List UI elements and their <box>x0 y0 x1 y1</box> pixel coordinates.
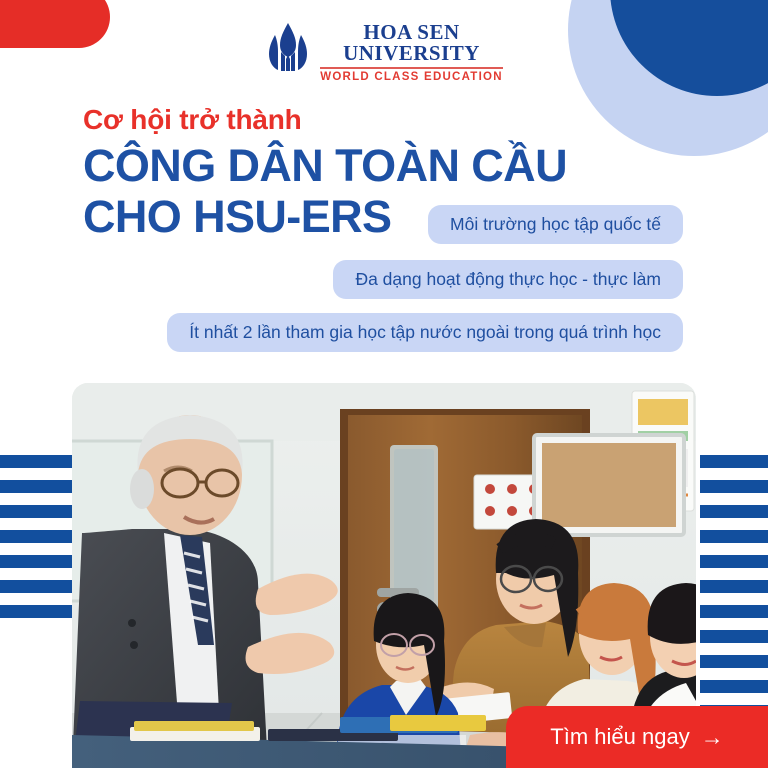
brand-tagline: WORLD CLASS EDUCATION <box>320 71 503 83</box>
brand-name-line1: HOA SEN <box>363 22 459 43</box>
decor-stripe-bar <box>0 455 80 468</box>
feature-pill: Đa dạng hoạt động thực học - thực làm <box>333 260 683 299</box>
decor-stripe-bar <box>0 605 80 618</box>
brand-divider <box>320 67 503 69</box>
decor-stripe-bar <box>700 680 768 693</box>
promo-poster: HOA SEN UNIVERSITY WORLD CLASS EDUCATION… <box>0 0 768 768</box>
feature-pill: Môi trường học tập quốc tế <box>428 205 683 244</box>
arrow-right-icon: → <box>701 726 724 749</box>
decor-stripe-bar <box>0 555 80 568</box>
feature-pill-label: Đa dạng hoạt động thực học - thực làm <box>355 269 661 290</box>
brand-logo: HOA SEN UNIVERSITY WORLD CLASS EDUCATION <box>0 22 768 83</box>
decor-stripe-bar <box>700 505 768 518</box>
decor-stripe-bar <box>0 505 80 518</box>
decor-stripe-bar <box>700 530 768 543</box>
decor-stripe-bar <box>0 480 80 493</box>
hoa-sen-flame-logo-icon <box>265 22 311 72</box>
headline-kicker: Cơ hội trở thành <box>83 104 302 136</box>
decor-stripe-bar <box>0 580 80 593</box>
feature-pill-label: Môi trường học tập quốc tế <box>450 214 661 235</box>
brand-name-line2: UNIVERSITY <box>343 43 480 64</box>
decor-stripe-bar <box>700 605 768 618</box>
decor-stripe-bar <box>700 555 768 568</box>
decor-stripe-bar <box>700 630 768 643</box>
cta-button[interactable]: Tìm hiểu ngay → <box>506 706 768 768</box>
feature-pill-label: Ít nhất 2 lần tham gia học tập nước ngoà… <box>189 322 661 343</box>
decor-stripe-bar <box>700 480 768 493</box>
cta-label: Tìm hiểu ngay <box>550 724 689 750</box>
feature-pill: Ít nhất 2 lần tham gia học tập nước ngoà… <box>167 313 683 352</box>
decor-stripe-bar <box>700 455 768 468</box>
decor-stripe-bar <box>0 530 80 543</box>
decor-stripes-left <box>0 455 80 615</box>
decor-stripe-bar <box>700 580 768 593</box>
decor-stripe-bar <box>700 655 768 668</box>
